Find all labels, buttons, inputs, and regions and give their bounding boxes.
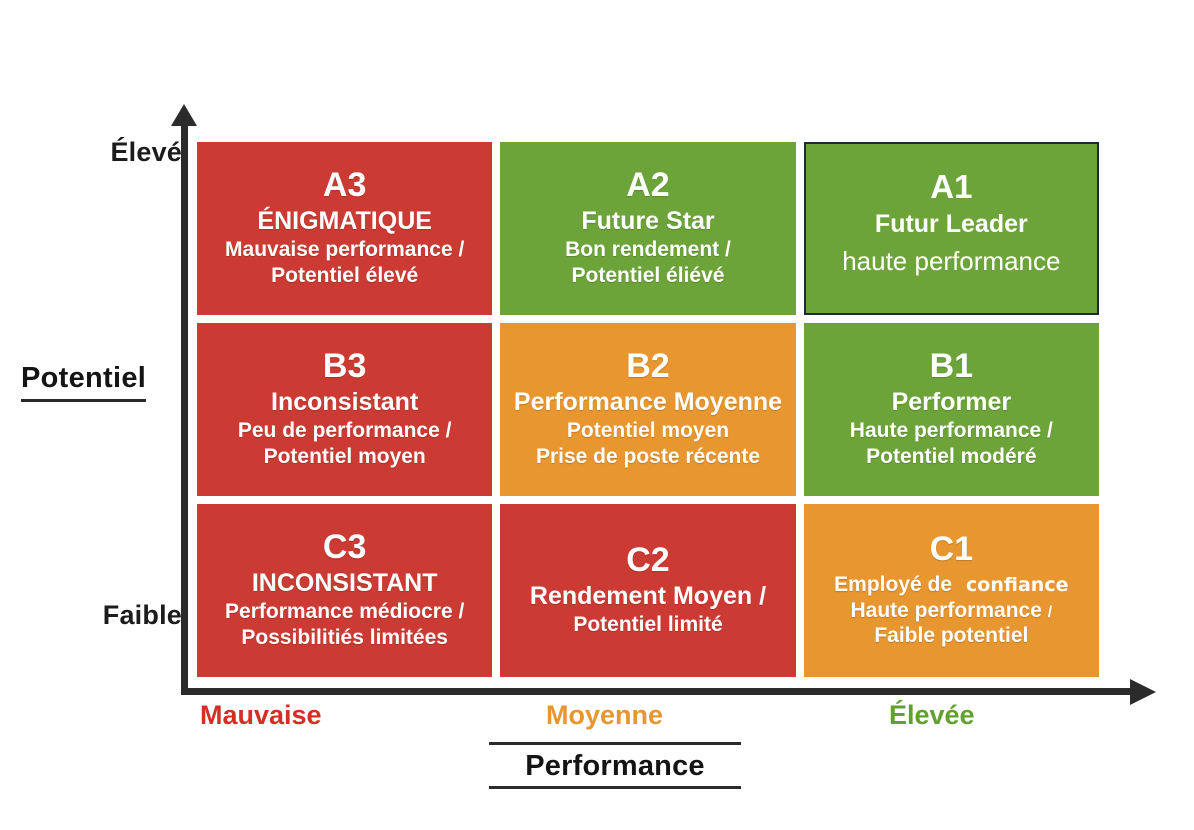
cell-title-extra: confiance [966, 574, 1068, 596]
cell-code: B3 [323, 349, 366, 385]
cell-code: B2 [626, 349, 669, 385]
cell-code: A3 [323, 168, 366, 204]
cell-title: Performance Moyenne [514, 389, 782, 417]
matrix-cell-a1[interactable]: A1 Futur Leader haute performance [804, 142, 1099, 315]
cell-desc-line: Possibilitiés limitées [225, 625, 464, 651]
cell-title-text: Employé de [834, 573, 952, 596]
cell-description: Haute performance / Potentiel modéré [850, 418, 1053, 469]
cell-code: B1 [930, 349, 973, 385]
x-axis-label-mauvaise: Mauvaise [200, 700, 322, 731]
cell-desc-line: Mauvaise performance / [225, 237, 464, 263]
cell-desc-line: Prise de poste récente [536, 444, 760, 470]
y-axis-title-underline [21, 399, 146, 402]
cell-title: Employé deconfiance [834, 572, 1068, 598]
matrix-cell-c2[interactable]: C2 Rendement Moyen / Potentiel limité [500, 504, 795, 677]
matrix-cell-c1[interactable]: C1 Employé deconfiance Haute performance… [804, 504, 1099, 677]
matrix-cell-b3[interactable]: B3 Inconsistant Peu de performance / Pot… [197, 323, 492, 496]
cell-code: A1 [930, 170, 972, 205]
cell-code: A2 [626, 168, 669, 204]
cell-desc-line: Haute performance / [850, 418, 1053, 444]
cell-description: haute performance [842, 246, 1060, 278]
nine-box-matrix-diagram: Élevé Faible Potentiel Mauvaise Moyenne … [0, 0, 1194, 830]
matrix-cell-a2[interactable]: A2 Future Star Bon rendement / Potentiel… [500, 142, 795, 315]
y-axis-line [181, 122, 188, 692]
x-axis-line [181, 688, 1136, 695]
cell-desc-slash: / [1048, 604, 1052, 621]
x-axis-title-underline [489, 786, 741, 789]
x-axis-arrow-icon [1130, 679, 1156, 705]
x-axis-title: Performance [489, 742, 741, 789]
cell-description: Potentiel moyen Prise de poste récente [536, 418, 760, 469]
cell-desc-line: Potentiel limité [573, 612, 722, 638]
y-axis-title-text: Potentiel [21, 362, 146, 394]
cell-description: Haute performance / Faible potentiel [850, 598, 1052, 649]
y-axis-title: Potentiel [21, 362, 146, 402]
cell-title: INCONSISTANT [252, 570, 438, 598]
cell-code: C1 [930, 532, 973, 568]
cell-title: ÉNIGMATIQUE [257, 208, 432, 236]
matrix-cell-b2[interactable]: B2 Performance Moyenne Potentiel moyen P… [500, 323, 795, 496]
cell-title: Rendement Moyen / [530, 583, 766, 611]
matrix-grid: A3 ÉNIGMATIQUE Mauvaise performance / Po… [197, 142, 1099, 677]
cell-description: Peu de performance / Potentiel moyen [238, 418, 452, 469]
cell-title: Performer [892, 389, 1012, 417]
y-axis-label-low: Faible [103, 600, 182, 631]
cell-title: Inconsistant [271, 389, 418, 417]
x-axis-label-elevee: Élevée [889, 700, 975, 731]
matrix-cell-b1[interactable]: B1 Performer Haute performance / Potenti… [804, 323, 1099, 496]
cell-code: C2 [626, 543, 669, 579]
y-axis-label-high: Élevé [110, 137, 182, 168]
matrix-cell-a3[interactable]: A3 ÉNIGMATIQUE Mauvaise performance / Po… [197, 142, 492, 315]
cell-desc-line: Faible potentiel [850, 623, 1052, 649]
cell-desc-line: Potentiel moyen [536, 418, 760, 444]
cell-description: Potentiel limité [573, 612, 722, 638]
cell-desc-line: Potentiel moyen [238, 444, 452, 470]
cell-description: Performance médiocre / Possibilitiés lim… [225, 599, 464, 650]
cell-code: C3 [323, 530, 366, 566]
x-axis-label-moyenne: Moyenne [546, 700, 663, 731]
cell-description: Bon rendement / Potentiel éliévé [565, 237, 731, 288]
cell-desc-line: Bon rendement / [565, 237, 731, 263]
cell-desc-line: Performance médiocre / [225, 599, 464, 625]
cell-desc-line: Haute performance / [850, 598, 1052, 624]
cell-desc-line: Potentiel élevé [225, 263, 464, 289]
cell-title: Futur Leader [875, 211, 1028, 239]
cell-title: Future Star [581, 208, 714, 236]
matrix-cell-c3[interactable]: C3 INCONSISTANT Performance médiocre / P… [197, 504, 492, 677]
cell-desc-text: Haute performance [850, 599, 1041, 622]
cell-desc-line: Potentiel éliévé [565, 263, 731, 289]
cell-description: Mauvaise performance / Potentiel élevé [225, 237, 464, 288]
cell-desc-line: Potentiel modéré [850, 444, 1053, 470]
cell-desc-line: Peu de performance / [238, 418, 452, 444]
x-axis-title-text: Performance [489, 745, 741, 786]
cell-desc-line: haute performance [842, 246, 1060, 278]
